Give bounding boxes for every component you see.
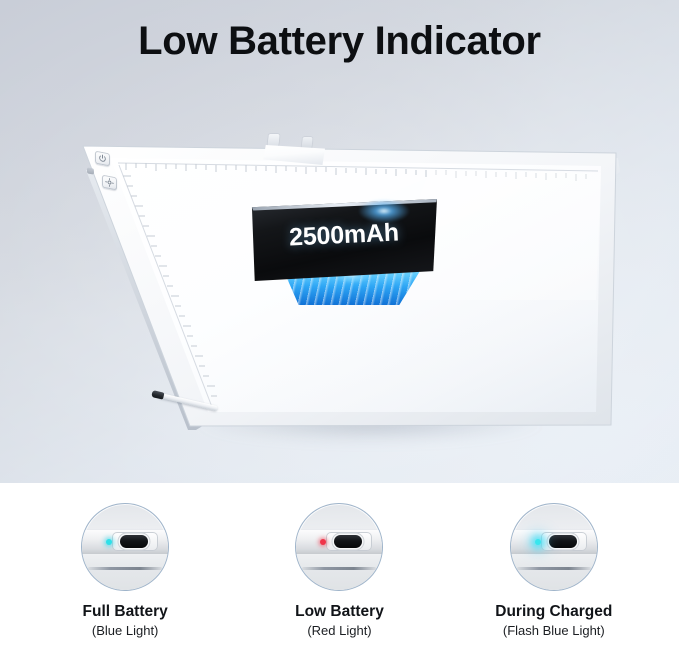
indicator-card-full-battery: Full Battery (Blue Light) <box>25 503 225 640</box>
device-edge-bottom <box>81 554 169 591</box>
device-edge-bottom <box>295 554 383 591</box>
indicator-title: Full Battery <box>25 602 225 621</box>
brightness-icon <box>105 177 114 188</box>
brightness-button[interactable] <box>102 175 117 191</box>
usb-c-port-icon <box>510 503 598 591</box>
indicator-title: Low Battery <box>239 602 439 621</box>
indicator-subtitle: (Blue Light) <box>25 623 225 639</box>
indicator-subtitle: (Flash Blue Light) <box>454 623 654 639</box>
clip-body <box>262 145 325 165</box>
side-usb-port <box>87 167 94 174</box>
kickstand-tip <box>151 390 164 400</box>
usb-port-slot <box>549 535 577 548</box>
indicator-subtitle: (Red Light) <box>239 623 439 639</box>
indicator-title: During Charged <box>454 602 654 621</box>
power-button[interactable] <box>95 151 110 167</box>
device-seam-line <box>302 567 376 570</box>
usb-c-port-icon <box>295 503 383 591</box>
led-indicator <box>535 539 541 545</box>
device-seam-line <box>517 567 591 570</box>
indicator-card-list: Full Battery (Blue Light) Low Battery (R… <box>0 483 679 640</box>
device-seam-line <box>88 567 162 570</box>
indicator-card-during-charged: During Charged (Flash Blue Light) <box>454 503 654 640</box>
usb-port-slot <box>334 535 362 548</box>
indicator-card-low-battery: Low Battery (Red Light) <box>239 503 439 640</box>
product-infographic: Low Battery Indicator <box>0 0 679 652</box>
hero-section: Low Battery Indicator <box>0 0 679 483</box>
paper-clip <box>258 133 328 167</box>
usb-port-slot <box>120 535 148 548</box>
battery-callout: 2500mAh <box>251 199 437 311</box>
power-icon <box>98 153 107 164</box>
usb-c-port-icon <box>81 503 169 591</box>
indicator-legend-section: Full Battery (Blue Light) Low Battery (R… <box>0 483 679 652</box>
device-edge-bottom <box>510 554 598 591</box>
light-pad-stage: 2500mAh <box>0 0 679 483</box>
